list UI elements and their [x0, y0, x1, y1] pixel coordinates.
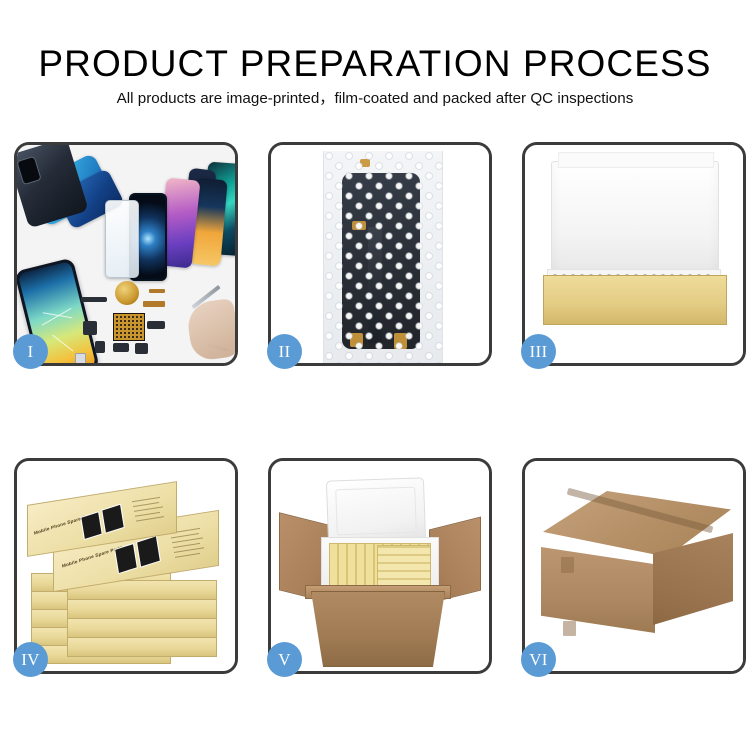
step-badge-4: IV — [13, 642, 48, 677]
bubble-texture-overlay — [324, 151, 442, 363]
flex-cable-part-2 — [149, 289, 165, 293]
step-badge-6: VI — [521, 642, 556, 677]
tempered-glass-sheet — [105, 200, 139, 278]
step-panel-1: I — [14, 142, 238, 366]
yellow-boxes-stack — [377, 545, 431, 587]
carton-front-face — [541, 547, 655, 633]
styrofoam-carton-scene — [271, 461, 489, 671]
carton-tape-lower — [563, 621, 576, 636]
stack-box-right-edge-3 — [67, 599, 217, 619]
step-panel-4: Mobile Phone Spare Parts Mobile Phone Sp… — [14, 458, 238, 674]
step-badge-5: V — [267, 642, 302, 677]
step-panel-6: VI — [522, 458, 746, 674]
small-chip-part — [95, 341, 105, 353]
page-title: PRODUCT PREPARATION PROCESS — [0, 42, 750, 86]
kraft-box-tray — [543, 275, 727, 325]
flex-cable-part — [143, 301, 165, 307]
product-preparation-infographic: PRODUCT PREPARATION PROCESS All products… — [0, 0, 750, 750]
step-4-image: Mobile Phone Spare Parts Mobile Phone Sp… — [17, 461, 235, 671]
box-screen-image-right-1 — [114, 543, 138, 574]
sealed-carton-scene — [525, 461, 743, 671]
white-foam-lid — [551, 161, 719, 281]
styrofoam-lid — [326, 477, 426, 544]
step-2-image — [271, 145, 489, 363]
camera-module-icon — [17, 156, 42, 185]
step-5-image — [271, 461, 489, 671]
box-screen-image-left-1 — [80, 511, 103, 540]
step-panel-3: III — [522, 142, 746, 366]
bubble-wrap-scene — [271, 145, 489, 363]
step-6-image — [525, 461, 743, 671]
step-1-image — [17, 145, 235, 363]
stack-box-right-edge-4 — [67, 618, 217, 638]
step-panel-5: V — [268, 458, 492, 674]
foam-inner-box-scene — [525, 145, 743, 363]
step-panel-2: II — [268, 142, 492, 366]
step-badge-1: I — [13, 334, 48, 369]
stack-box-right-edge-5 — [67, 637, 217, 657]
page-subtitle: All products are image-printed，film-coat… — [0, 88, 750, 110]
phones-and-parts-scene — [17, 145, 235, 363]
box-screen-image-right-2 — [136, 535, 161, 568]
carton-tape-upper — [561, 557, 574, 573]
step-3-image — [525, 145, 743, 363]
step-badge-2: II — [267, 334, 302, 369]
button-part — [135, 343, 148, 354]
antenna-part — [147, 321, 165, 329]
stacked-boxes-scene: Mobile Phone Spare Parts Mobile Phone Sp… — [17, 461, 235, 671]
carton-body — [311, 591, 445, 667]
speaker-part — [81, 297, 107, 302]
logic-board-part — [113, 313, 145, 341]
camera-part — [83, 321, 97, 335]
vibration-motor-part — [115, 281, 139, 305]
box-screen-image-left-2 — [101, 504, 125, 534]
bubble-wrap-bag — [323, 151, 443, 363]
step-badge-3: III — [521, 334, 556, 369]
sim-tray-part — [75, 353, 86, 363]
connector-part — [113, 343, 129, 352]
